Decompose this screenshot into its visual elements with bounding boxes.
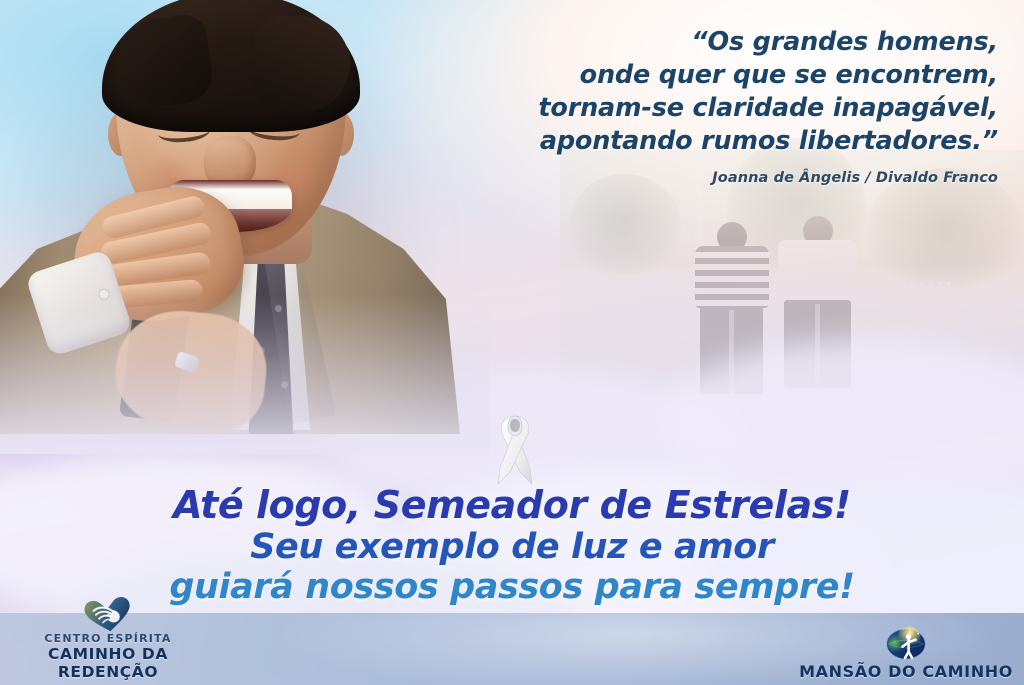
hair-icon (102, 0, 360, 132)
headline-line-2: Seu exemplo de luz e amor (0, 529, 1024, 565)
heart-hands-icon (8, 596, 208, 632)
ribbon-loop-hole (510, 419, 520, 432)
logo-mansao-do-caminho[interactable]: MANSÃO DO CAMINHO (796, 626, 1016, 681)
headline-line-1: Até logo, Semeador de Estrelas! (0, 486, 1024, 525)
logo-left-line-1: CENTRO ESPÍRITA (8, 632, 208, 645)
globe-figure-icon (796, 626, 1016, 662)
white-ribbon-icon (484, 412, 546, 490)
quote-text: “Os grandes homens, onde quer que se enc… (458, 26, 998, 158)
logo-centro-espirita[interactable]: CENTRO ESPÍRITA CAMINHO DA REDENÇÃO (8, 596, 208, 681)
portrait-photo (0, 0, 460, 434)
quote-line-1: “Os grandes homens, (458, 26, 998, 59)
tree-icon (866, 168, 1024, 294)
quote-line-4: apontando rumos libertadores.” (458, 125, 998, 158)
torso-icon (695, 246, 769, 308)
quote-line-2: onde quer que se encontrem, (458, 59, 998, 92)
logo-left-line-2: CAMINHO DA REDENÇÃO (8, 645, 208, 681)
star-icon (917, 633, 919, 635)
tree-icon (569, 174, 680, 276)
logo-right-line-1: MANSÃO DO CAMINHO (796, 662, 1016, 681)
quote-attribution: Joanna de Ângelis / Divaldo Franco (458, 170, 998, 186)
headline-block: Até logo, Semeador de Estrelas! Seu exem… (0, 486, 1024, 605)
quote-line-3: tornam-se claridade inapagável, (458, 92, 998, 125)
memorial-poster: “Os grandes homens, onde quer que se enc… (0, 0, 1024, 685)
torso-icon (778, 240, 857, 302)
